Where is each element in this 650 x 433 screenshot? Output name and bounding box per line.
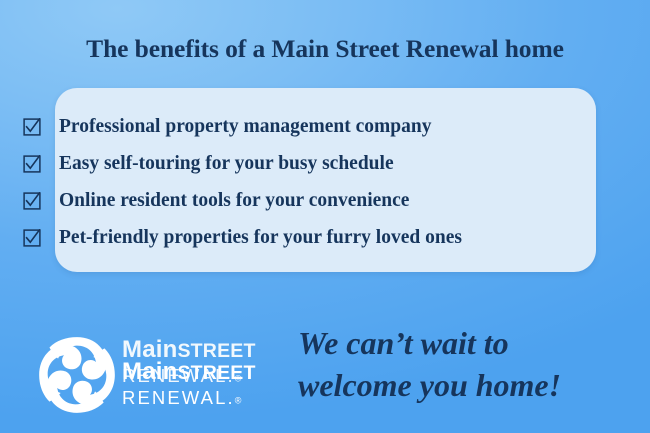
checkbox-checked-icon — [23, 155, 41, 173]
list-item: Easy self-touring for your busy schedule — [23, 147, 634, 181]
tagline: We can’t wait to welcome you home! — [298, 322, 634, 406]
list-item-label: Professional property management company — [59, 117, 431, 137]
promo-graphic: The benefits of a Main Street Renewal ho… — [0, 0, 650, 433]
list-item: Pet-friendly properties for your furry l… — [23, 221, 634, 255]
list-item: Online resident tools for your convenien… — [23, 184, 634, 218]
checkbox-checked-icon — [23, 118, 41, 136]
brand-wordmark: MainSTREET RENEWAL.® — [122, 360, 294, 408]
checkbox-checked-icon — [23, 192, 41, 210]
list-item-label: Pet-friendly properties for your furry l… — [59, 228, 462, 248]
tagline-line-1: We can’t wait to — [298, 322, 634, 364]
checkbox-checked-icon — [23, 229, 41, 247]
list-item-label: Online resident tools for your convenien… — [59, 191, 409, 211]
list-item-label: Easy self-touring for your busy schedule — [59, 154, 394, 174]
mainstreet-pinwheel-logo-icon — [34, 332, 120, 418]
brand-logo: MainSTREET RENEWAL.® MainSTREET RENEWAL.… — [28, 326, 288, 430]
page-title: The benefits of a Main Street Renewal ho… — [0, 34, 650, 64]
list-item: Professional property management company — [23, 110, 634, 144]
tagline-line-2: welcome you home! — [298, 364, 634, 406]
brand-wordmark-sub: RENEWAL.® — [122, 389, 294, 408]
brand-wordmark-main: MainSTREET — [122, 360, 294, 384]
